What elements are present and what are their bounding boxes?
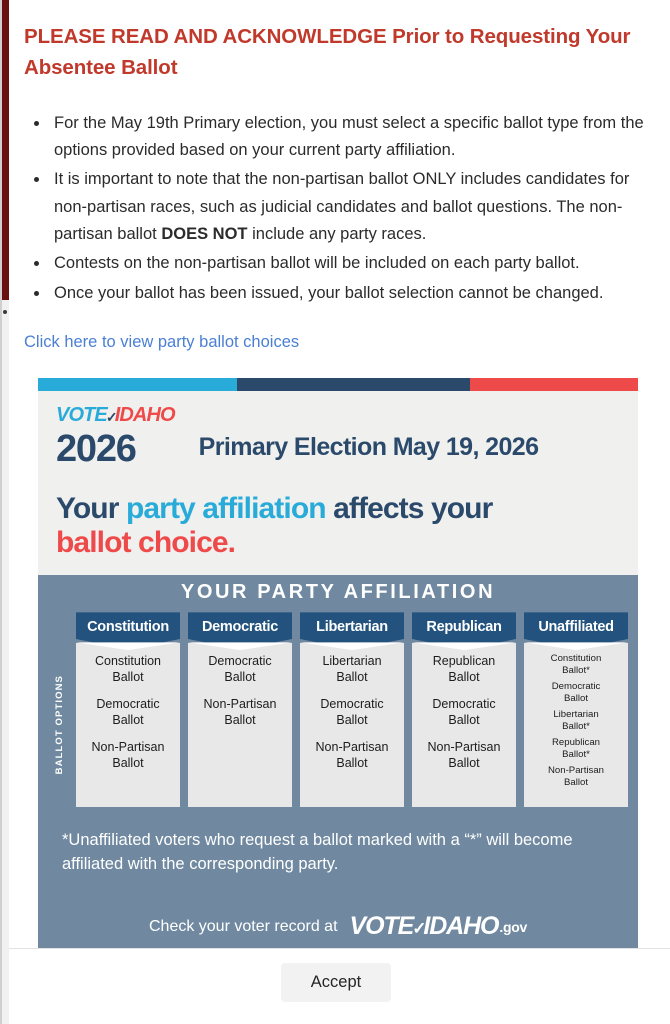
bullet-text-post: include any party races. [248,225,427,243]
accept-button[interactable]: Accept [281,963,391,1002]
logo-idaho-text: IDAHO [423,912,498,941]
ballot-option: Non-PartisanBallot [304,739,400,771]
ballot-option: DemocraticBallot [528,681,624,705]
ballot-options-axis-text: BALLOT OPTIONS [54,675,65,774]
ballot-option: RepublicanBallot* [528,737,624,761]
tagline-part-1: Your [56,492,126,525]
party-ballot-options: DemocraticBallot Non-PartisanBallot [188,643,292,807]
strip-segment-cyan [38,378,237,391]
bullet-text-bold: DOES NOT [161,225,247,243]
election-headline: Primary Election May 19, 2026 [199,435,539,468]
party-ballot-options: ConstitutionBallot DemocraticBallot Non-… [76,643,180,807]
election-year: 2026 [56,430,175,468]
ballot-option: ConstitutionBallot [80,653,176,685]
ballot-option: Non-PartisanBallot [416,739,512,771]
party-column-libertarian: Libertarian LibertarianBallot Democratic… [300,612,404,807]
vertical-scrollbar[interactable] [2,0,9,1024]
voteidaho-logo-block: VOTE✓IDAHO 2026 [56,405,175,468]
scrollbar-thumb[interactable] [2,0,9,300]
asterisk-footnote: *Unaffiliated voters who request a ballo… [38,807,638,886]
affiliation-banner: YOUR PARTY AFFILIATION [38,575,638,612]
matrix-columns: Constitution ConstitutionBallot Democrat… [70,612,628,807]
ballot-option: RepublicanBallot [416,653,512,685]
infographic-header: VOTE✓IDAHO 2026 Primary Election May 19,… [38,391,638,482]
page-title: PLEASE READ AND ACKNOWLEDGE Prior to Req… [24,22,652,84]
scrollbar-position-marker [3,310,7,314]
party-column-democratic: Democratic DemocraticBallot Non-Partisan… [188,612,292,807]
list-item: It is important to note that the non-par… [50,166,652,248]
brand-color-strip [38,378,638,391]
dialog-footer: Accept [2,948,670,1024]
list-item: Contests on the non-partisan ballot will… [50,250,652,277]
tagline-part-3: affects your [326,492,493,525]
ballot-option: DemocraticBallot [80,696,176,728]
strip-segment-red [470,378,638,391]
logo-vote-text: VOTE [56,405,107,425]
infographic-tagline: Your party affiliation affects yourballo… [38,482,638,575]
voter-record-text: Check your voter record at [149,918,338,936]
voteidaho-logo: VOTE✓IDAHO [56,405,175,425]
party-column-republican: Republican RepublicanBallot DemocraticBa… [412,612,516,807]
ballot-matrix: BALLOT OPTIONS Constitution Constitution… [38,612,638,807]
tagline-part-4: ballot choice. [56,526,235,559]
ballot-option: DemocraticBallot [192,653,288,685]
voter-record-callout: Check your voter record at VOTE✓IDAHO.go… [38,886,638,948]
ballot-option: LibertarianBallot [304,653,400,685]
ballot-option: Non-PartisanBallot [192,696,288,728]
party-ballot-options: LibertarianBallot DemocraticBallot Non-P… [300,643,404,807]
bullet-text-pre: Contests on the non-partisan ballot will… [54,254,580,272]
voteidaho-gov-logo: VOTE✓IDAHO.gov [350,912,527,941]
ballot-options-axis-label: BALLOT OPTIONS [48,652,70,797]
ballot-option: Non-PartisanBallot [80,739,176,771]
logo-vote-text: VOTE [350,912,414,941]
list-item: Once your ballot has been issued, your b… [50,280,652,307]
ballot-option: ConstitutionBallot* [528,653,624,677]
ballot-option: Non-PartisanBallot [528,765,624,789]
party-column-constitution: Constitution ConstitutionBallot Democrat… [76,612,180,807]
bullet-text-pre: For the May 19th Primary election, you m… [54,114,644,159]
absentee-ballot-acknowledge-dialog: PLEASE READ AND ACKNOWLEDGE Prior to Req… [0,0,670,1024]
logo-idaho-text: IDAHO [115,405,175,425]
notice-bullet-list: For the May 19th Primary election, you m… [24,110,652,308]
bullet-text-pre: Once your ballot has been issued, your b… [54,284,603,302]
list-item: For the May 19th Primary election, you m… [50,110,652,165]
party-ballot-options: RepublicanBallot DemocraticBallot Non-Pa… [412,643,516,807]
tagline-part-2: party affiliation [126,492,326,525]
ballot-option: DemocraticBallot [416,696,512,728]
ballot-option: LibertarianBallot* [528,709,624,733]
logo-gov-text: .gov [499,919,527,935]
party-ballot-options: ConstitutionBallot* DemocraticBallot Lib… [524,643,628,807]
dialog-scroll-body: PLEASE READ AND ACKNOWLEDGE Prior to Req… [2,0,670,948]
party-affiliation-infographic: VOTE✓IDAHO 2026 Primary Election May 19,… [38,378,638,948]
party-ballot-choices-link[interactable]: Click here to view party ballot choices [24,331,299,354]
strip-segment-navy [237,378,470,391]
ballot-option: DemocraticBallot [304,696,400,728]
party-column-unaffiliated: Unaffiliated ConstitutionBallot* Democra… [524,612,628,807]
